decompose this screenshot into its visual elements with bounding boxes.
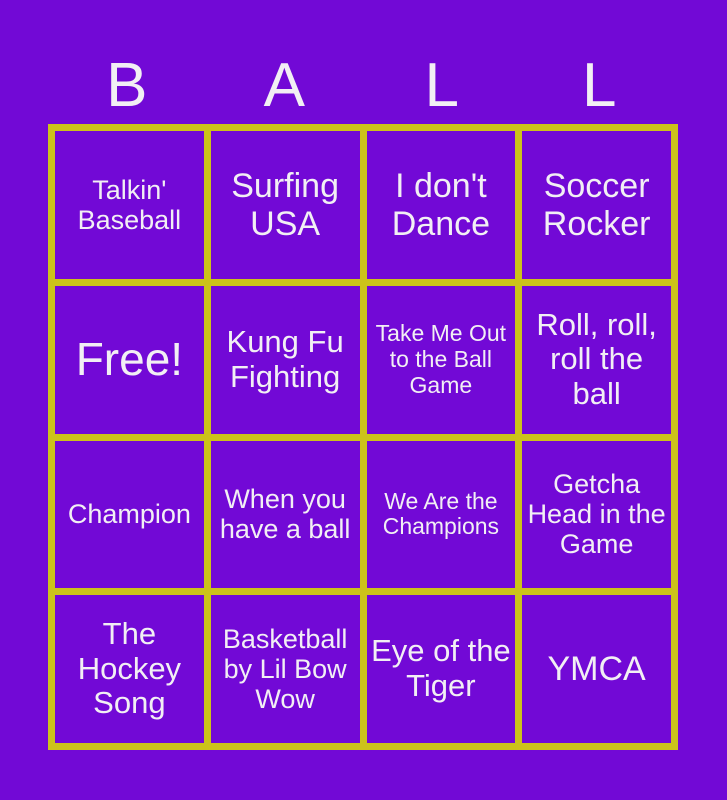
- bingo-cell[interactable]: Soccer Rocker: [522, 131, 671, 279]
- bingo-cell-label: Take Me Out to the Ball Game: [371, 321, 512, 398]
- bingo-cell-label: We Are the Champions: [371, 489, 512, 541]
- bingo-header-letter-3: L: [521, 48, 679, 124]
- bingo-cell[interactable]: When you have a ball: [211, 441, 360, 589]
- bingo-cell-label: Roll, roll, roll the ball: [526, 308, 667, 412]
- bingo-cell[interactable]: Take Me Out to the Ball Game: [367, 286, 516, 434]
- bingo-cell-label: Soccer Rocker: [526, 167, 667, 243]
- bingo-cell-label: Champion: [59, 499, 200, 529]
- bingo-cell[interactable]: Kung Fu Fighting: [211, 286, 360, 434]
- bingo-cell[interactable]: YMCA: [522, 595, 671, 743]
- bingo-cell-free[interactable]: Free!: [55, 286, 204, 434]
- bingo-cell-label: YMCA: [526, 650, 667, 688]
- bingo-cell[interactable]: Champion: [55, 441, 204, 589]
- bingo-cell[interactable]: The Hockey Song: [55, 595, 204, 743]
- bingo-cell[interactable]: I don't Dance: [367, 131, 516, 279]
- bingo-header-letter-1: A: [206, 48, 364, 124]
- bingo-cell-label: Free!: [59, 334, 200, 386]
- bingo-cell[interactable]: We Are the Champions: [367, 441, 516, 589]
- bingo-cell-label: Talkin' Baseball: [59, 175, 200, 235]
- bingo-cell[interactable]: Basketball by Lil Bow Wow: [211, 595, 360, 743]
- bingo-cell[interactable]: Roll, roll, roll the ball: [522, 286, 671, 434]
- bingo-cell[interactable]: Surfing USA: [211, 131, 360, 279]
- bingo-cell-label: The Hockey Song: [59, 617, 200, 721]
- bingo-header-letter-0: B: [48, 48, 206, 124]
- bingo-card: BALL Talkin' BaseballSurfing USAI don't …: [0, 0, 727, 800]
- bingo-cell-label: Kung Fu Fighting: [215, 325, 356, 394]
- bingo-cell[interactable]: Talkin' Baseball: [55, 131, 204, 279]
- bingo-cell-label: Surfing USA: [215, 167, 356, 243]
- bingo-cell-label: Eye of the Tiger: [371, 634, 512, 703]
- bingo-cell-label: Basketball by Lil Bow Wow: [215, 624, 356, 715]
- bingo-cell-label: Getcha Head in the Game: [526, 469, 667, 560]
- bingo-header-letter-2: L: [363, 48, 521, 124]
- bingo-cell[interactable]: Getcha Head in the Game: [522, 441, 671, 589]
- bingo-cell-label: I don't Dance: [371, 167, 512, 243]
- bingo-cell[interactable]: Eye of the Tiger: [367, 595, 516, 743]
- bingo-grid: Talkin' BaseballSurfing USAI don't Dance…: [48, 124, 678, 750]
- bingo-cell-label: When you have a ball: [215, 484, 356, 544]
- bingo-header-letters: BALL: [48, 48, 678, 124]
